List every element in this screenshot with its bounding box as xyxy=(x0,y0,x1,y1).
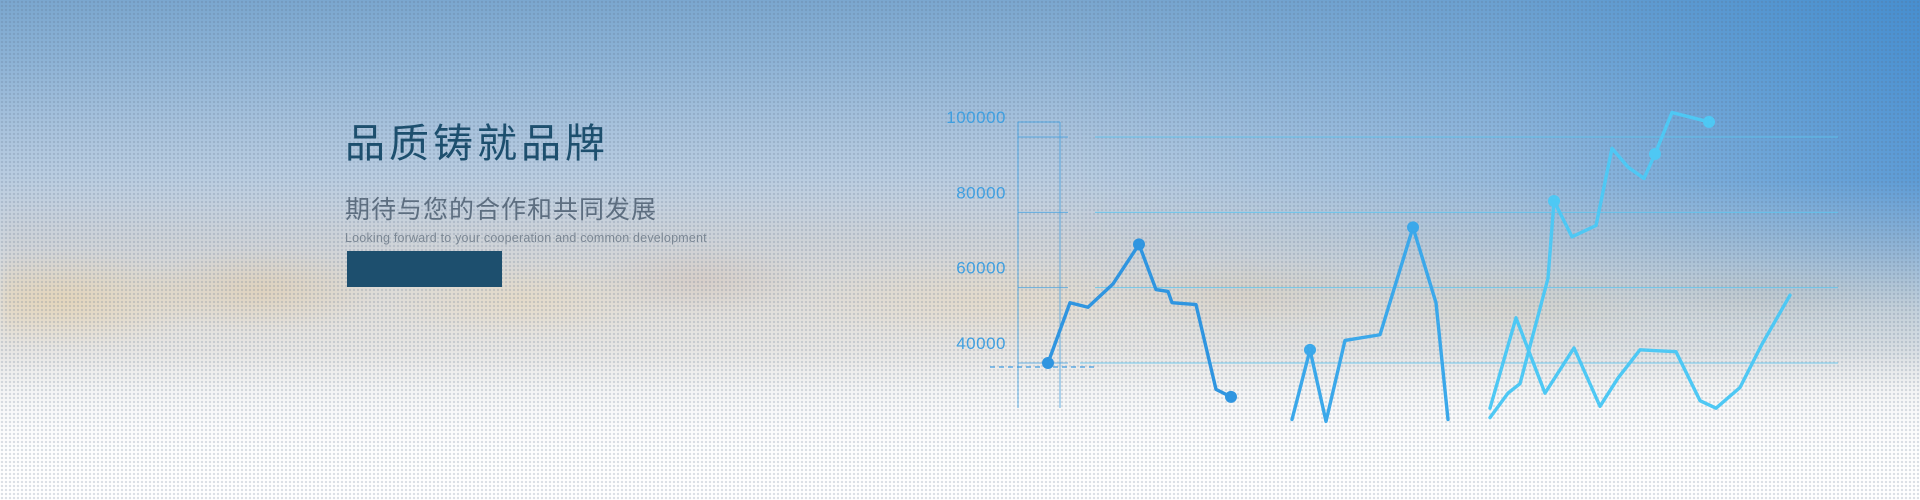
hero-banner: 400006000080000100000 品质铸就品牌 期待与您的合作和共同发… xyxy=(0,0,1920,500)
background-halftone-dots xyxy=(0,0,1920,500)
hero-subtitle: 期待与您的合作和共同发展 xyxy=(345,196,765,225)
page-title: 品质铸就品牌 xyxy=(345,122,765,166)
hero-copy-block: 品质铸就品牌 期待与您的合作和共同发展 Looking forward to y… xyxy=(345,122,765,245)
hero-cta-button[interactable] xyxy=(347,251,502,287)
hero-english-tagline: Looking forward to your cooperation and … xyxy=(345,231,765,245)
